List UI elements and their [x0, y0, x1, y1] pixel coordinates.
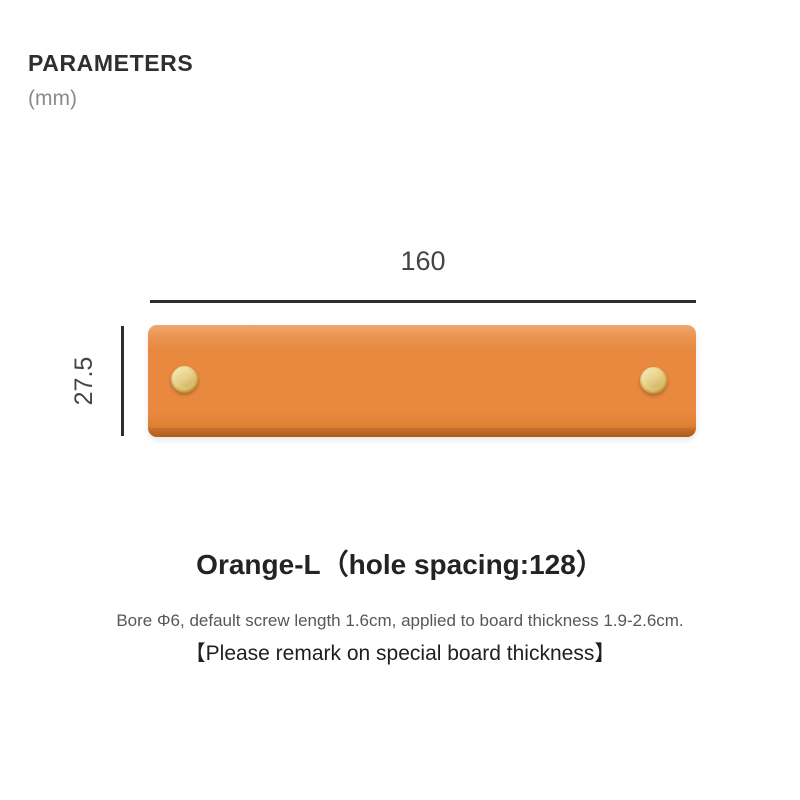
height-dimension-label: 27.5	[69, 326, 99, 436]
width-dimension-line	[150, 300, 696, 303]
product-handle-bar	[148, 325, 696, 437]
height-dimension-line	[121, 326, 124, 436]
product-caption: Orange-L（hole spacing:128） Bore Φ6, defa…	[0, 548, 800, 667]
variant-title: Orange-L（hole spacing:128）	[0, 548, 800, 582]
leather-edge-shadow	[148, 428, 696, 437]
screw-stud-right-icon	[640, 367, 667, 394]
specification-note: Bore Φ6, default screw length 1.6cm, app…	[0, 610, 800, 633]
screw-stud-left-icon	[171, 366, 198, 393]
highlight-overlay	[148, 325, 696, 351]
width-dimension-label: 160	[150, 248, 696, 275]
remark-note: 【Please remark on special board thicknes…	[0, 640, 800, 667]
product-dimension-diagram: 160 27.5	[0, 0, 800, 540]
